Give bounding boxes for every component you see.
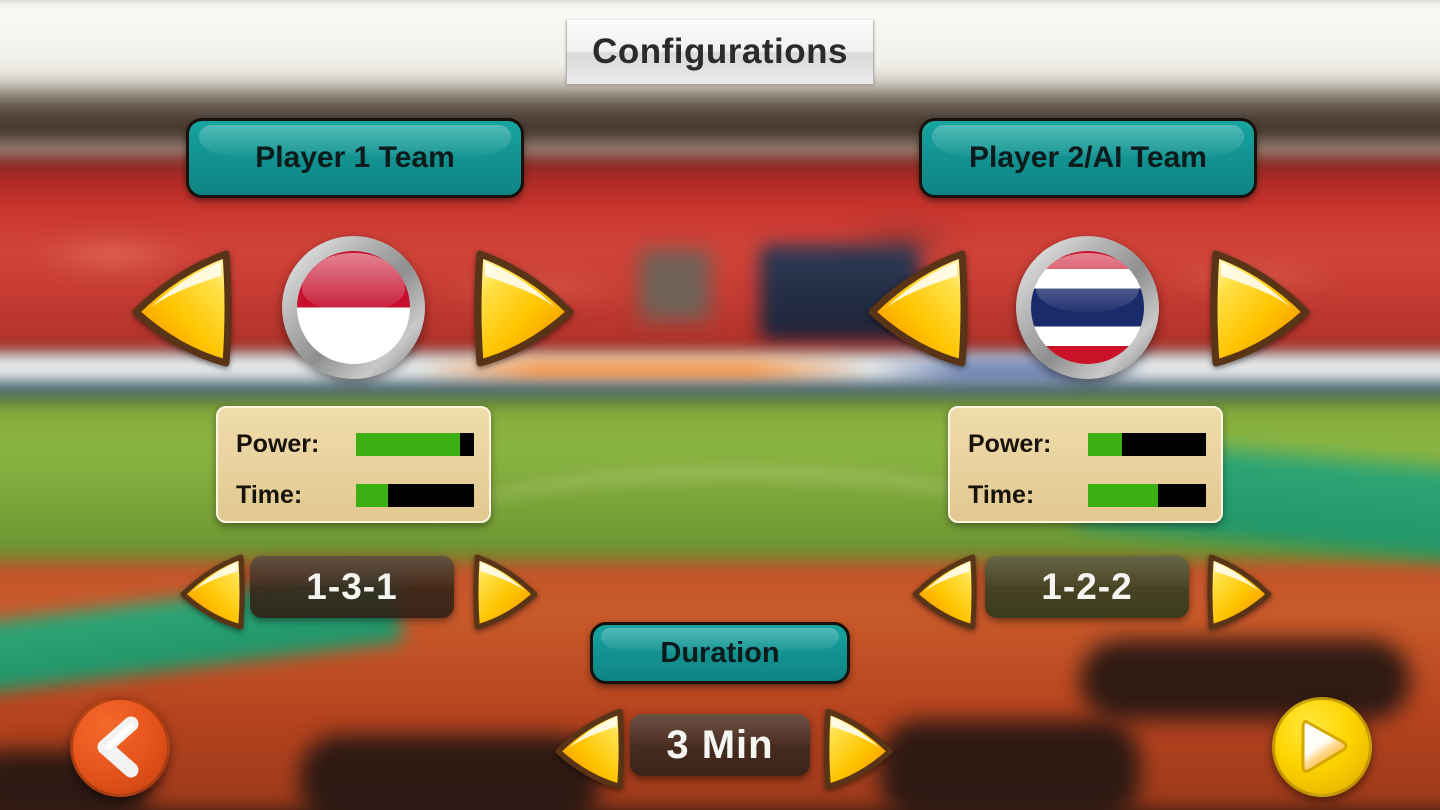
duration-prev-arrow[interactable] xyxy=(550,706,628,792)
player-2-time-row: Time: xyxy=(968,475,1207,515)
page-title-text: Configurations xyxy=(592,32,848,72)
player-2-flag-prev-arrow[interactable] xyxy=(862,246,972,371)
player-2-flag-badge[interactable] xyxy=(1016,236,1159,379)
page-title: Configurations xyxy=(566,20,874,84)
player-1-power-bar xyxy=(356,433,474,456)
bg-foreground-blob xyxy=(880,720,1140,810)
play-triangle-icon xyxy=(1285,710,1359,784)
player-2-power-row: Power: xyxy=(968,424,1207,464)
player-1-time-label: Time: xyxy=(236,481,356,510)
player-1-team-label: Player 1 Team xyxy=(255,141,455,175)
player-2-formation-value[interactable]: 1-2-2 xyxy=(985,556,1189,618)
player-1-flag-next-arrow[interactable] xyxy=(470,246,580,371)
player-2-time-bar xyxy=(1088,484,1206,507)
player-1-team-button[interactable]: Player 1 Team xyxy=(186,118,524,198)
chevron-left-icon xyxy=(85,712,155,782)
player-2-formation-text: 1-2-2 xyxy=(1041,566,1132,608)
bg-foreground-blob xyxy=(1080,640,1410,720)
player-1-power-fill xyxy=(356,433,460,456)
player-1-stats-panel: Power: Time: xyxy=(216,406,491,523)
duration-value[interactable]: 3 Min xyxy=(630,714,810,776)
player-1-power-label: Power: xyxy=(236,430,356,459)
player-2-flag-next-arrow[interactable] xyxy=(1206,246,1316,371)
player-2-formation-next-arrow[interactable] xyxy=(1204,552,1276,632)
player-1-formation-prev-arrow[interactable] xyxy=(176,552,248,632)
configurations-screen: Configurations Player 1 Team Player 2/AI… xyxy=(0,0,1440,810)
duration-button[interactable]: Duration xyxy=(590,622,850,684)
bg-stand-block xyxy=(640,250,710,320)
next-button[interactable] xyxy=(1272,697,1372,797)
duration-next-arrow[interactable] xyxy=(820,706,898,792)
duration-value-text: 3 Min xyxy=(666,723,773,768)
player-1-formation-text: 1-3-1 xyxy=(306,566,397,608)
player-1-flag-badge[interactable] xyxy=(282,236,425,379)
player-2-time-fill xyxy=(1088,484,1158,507)
flag-thailand-icon xyxy=(1031,251,1144,364)
player-2-team-label: Player 2/AI Team xyxy=(969,141,1207,175)
player-1-formation-value[interactable]: 1-3-1 xyxy=(250,556,454,618)
player-2-stats-panel: Power: Time: xyxy=(948,406,1223,523)
player-2-power-label: Power: xyxy=(968,430,1088,459)
player-1-time-bar xyxy=(356,484,474,507)
flag-indonesia-icon xyxy=(297,251,410,364)
player-1-time-row: Time: xyxy=(236,475,475,515)
duration-label: Duration xyxy=(660,637,779,670)
player-2-power-fill xyxy=(1088,433,1122,456)
player-1-formation-next-arrow[interactable] xyxy=(470,552,542,632)
back-button[interactable] xyxy=(70,697,170,797)
player-1-power-row: Power: xyxy=(236,424,475,464)
player-2-time-label: Time: xyxy=(968,481,1088,510)
player-2-power-bar xyxy=(1088,433,1206,456)
player-2-team-button[interactable]: Player 2/AI Team xyxy=(919,118,1257,198)
player-1-flag-prev-arrow[interactable] xyxy=(126,246,236,371)
player-2-formation-prev-arrow[interactable] xyxy=(908,552,980,632)
player-1-time-fill xyxy=(356,484,388,507)
